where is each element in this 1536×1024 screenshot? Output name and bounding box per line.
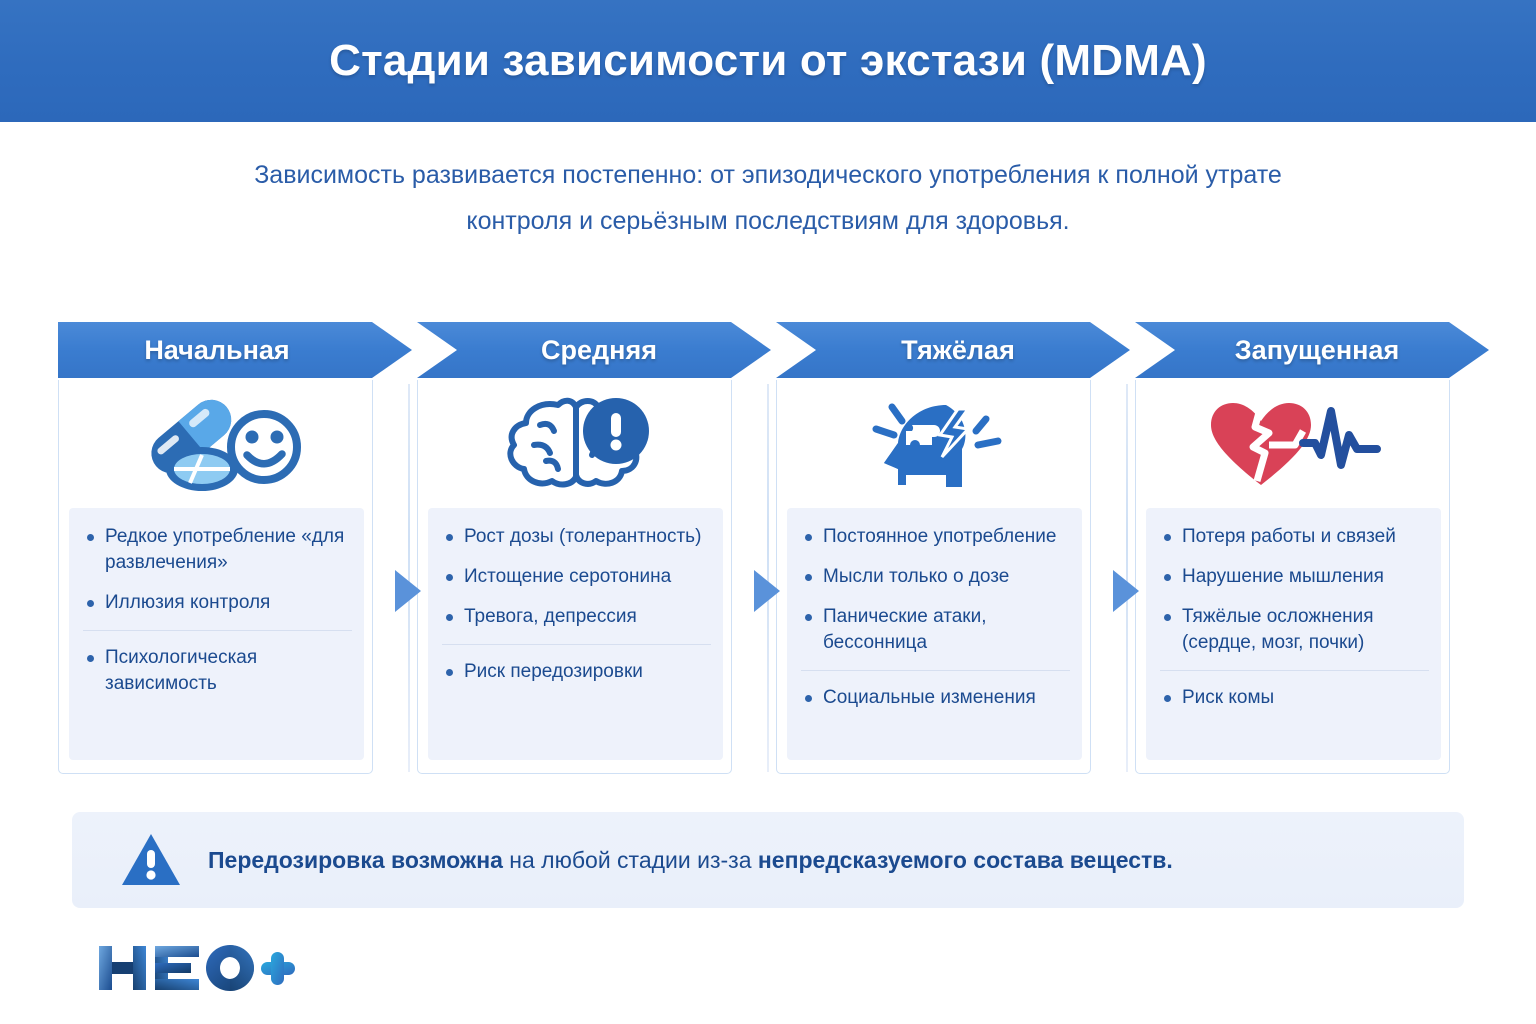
stage-header-chevron[interactable]: Тяжёлая	[776, 322, 1130, 378]
warning-bold-start: Передозировка возможна	[208, 847, 503, 873]
stages-container: Начальная	[58, 322, 1478, 774]
stage-card: Редкое употребление «для развлечения»Илл…	[58, 380, 373, 774]
stage-bullet-item: Нарушение мышления	[1160, 564, 1429, 590]
stage-bullets-box: Рост дозы (толерантность)Истощение серот…	[428, 508, 723, 760]
stage-bullets-box: Потеря работы и связейНарушение мышления…	[1146, 508, 1441, 760]
overdose-warning-banner: Передозировка возможна на любой стадии и…	[72, 812, 1464, 908]
stage-card: Рост дозы (толерантность)Истощение серот…	[417, 380, 732, 774]
stage-bullet-item: Риск комы	[1160, 670, 1429, 711]
stage-bullet-list: Потеря работы и связейНарушение мышления…	[1160, 524, 1429, 711]
stage-bullet-item: Панические атаки, бессонница	[801, 604, 1070, 656]
stage-bullets-box: Редкое употребление «для развлечения»Илл…	[69, 508, 364, 760]
head-puzzle-lightning-icon	[777, 380, 1092, 505]
stage-column-srednyaya[interactable]: Средняя	[417, 322, 732, 774]
page-header-banner: Стадии зависимости от экстази (MDMA)	[0, 0, 1536, 122]
stage-bullet-item: Истощение серотонина	[442, 564, 711, 590]
warning-middle: на любой стадии из-за	[503, 847, 758, 873]
subtitle-line-1: Зависимость развивается постепенно: от э…	[168, 152, 1368, 198]
stage-bullet-item: Риск передозировки	[442, 644, 711, 685]
stage-label: Средняя	[541, 335, 657, 366]
brand-logo[interactable]	[95, 940, 295, 996]
stage-header-chevron[interactable]: Средняя	[417, 322, 771, 378]
stage-column-nachalnaya[interactable]: Начальная	[58, 322, 373, 774]
warning-text: Передозировка возможна на любой стадии и…	[208, 847, 1173, 874]
stage-column-tyazhelaya[interactable]: Тяжёлая Постоянное употре	[776, 322, 1091, 774]
page-subtitle: Зависимость развивается постепенно: от э…	[168, 152, 1368, 244]
stage-bullet-item: Тяжёлые осложнения (сердце, мозг, почки)	[1160, 604, 1429, 656]
pills-smiley-icon	[59, 380, 374, 505]
stage-bullet-item: Постоянное употребление	[801, 524, 1070, 550]
stage-bullet-item: Рост дозы (толерантность)	[442, 524, 711, 550]
stage-bullet-item: Тревога, депрессия	[442, 604, 711, 630]
stage-bullet-item: Социальные изменения	[801, 670, 1070, 711]
stage-bullet-item: Психологическая зависимость	[83, 630, 352, 697]
stage-label: Запущенная	[1235, 335, 1399, 366]
page-title: Стадии зависимости от экстази (MDMA)	[329, 36, 1207, 86]
brain-alert-icon	[418, 380, 733, 505]
column-divider	[408, 384, 410, 772]
stage-label: Начальная	[144, 335, 289, 366]
stage-card: Потеря работы и связейНарушение мышления…	[1135, 380, 1450, 774]
stage-bullet-item: Редкое употребление «для развлечения»	[83, 524, 352, 576]
subtitle-line-2: контроля и серьёзным последствиям для зд…	[168, 198, 1368, 244]
stage-card: Постоянное употреблениеМысли только о до…	[776, 380, 1091, 774]
stage-header-chevron[interactable]: Запущенная	[1135, 322, 1489, 378]
warning-triangle-icon	[120, 832, 182, 888]
column-divider	[1126, 384, 1128, 772]
broken-heart-ecg-icon	[1136, 380, 1451, 505]
stage-bullet-item: Потеря работы и связей	[1160, 524, 1429, 550]
stage-bullets-box: Постоянное употреблениеМысли только о до…	[787, 508, 1082, 760]
column-divider	[767, 384, 769, 772]
stage-bullet-list: Редкое употребление «для развлечения»Илл…	[83, 524, 352, 697]
stage-label: Тяжёлая	[901, 335, 1015, 366]
stage-bullet-list: Рост дозы (толерантность)Истощение серот…	[442, 524, 711, 685]
stage-bullet-list: Постоянное употреблениеМысли только о до…	[801, 524, 1070, 711]
stage-header-chevron[interactable]: Начальная	[58, 322, 412, 378]
stage-bullet-item: Иллюзия контроля	[83, 590, 352, 616]
stage-bullet-item: Мысли только о дозе	[801, 564, 1070, 590]
stage-column-zapushchennaya[interactable]: Запущенная Потеря работы и связейНарушен…	[1135, 322, 1450, 774]
warning-bold-end: непредсказуемого состава веществ.	[758, 847, 1173, 873]
